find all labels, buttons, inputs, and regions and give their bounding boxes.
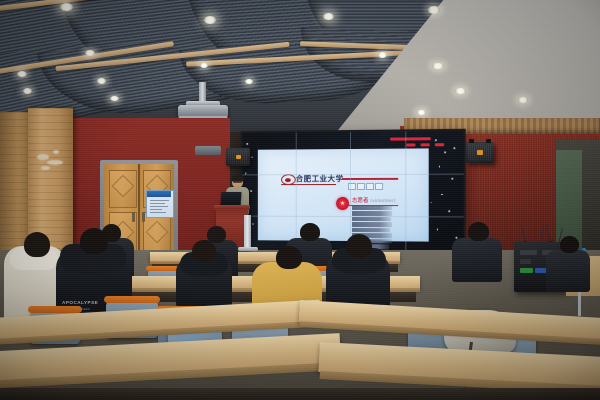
ceiling-downlight (85, 50, 95, 56)
slide-headline: 志愿者 (volunteer) (352, 198, 395, 205)
chair-trim (28, 306, 82, 313)
side-table-leg (578, 290, 581, 316)
ceiling-downlight (428, 6, 440, 14)
led-panel-seam (405, 131, 406, 258)
door-center-seam (138, 164, 140, 260)
slide-header-bar (435, 143, 444, 146)
rack-display (520, 250, 537, 255)
slide-headline-en: (volunteer) (370, 199, 395, 204)
podium-stand-base (238, 247, 258, 251)
ceiling-downlight (200, 63, 208, 68)
wall-speaker-right (466, 142, 494, 163)
door-handle[interactable] (142, 212, 145, 222)
ceiling-downlight (204, 16, 216, 24)
slide-header-bar (406, 143, 415, 146)
ceiling-downlight (23, 88, 32, 94)
ceiling-downlight (323, 13, 334, 20)
ceiling-downlight (432, 63, 444, 69)
slide-headline-cn: 志愿者 (352, 198, 369, 204)
ceiling-downlight (17, 71, 27, 77)
wood-wall-panel-left (0, 112, 30, 258)
desk-underside-front (0, 388, 600, 400)
rack-status-led (520, 268, 533, 273)
jacket-brand-text: APOCALYPSE (62, 300, 98, 305)
ceiling-downlight (518, 97, 528, 103)
chair-trim (104, 296, 160, 303)
podium-mic-stand (244, 215, 251, 249)
door-handle[interactable] (132, 212, 135, 222)
ceiling-downlight (245, 79, 253, 84)
wall-speaker-left (226, 148, 250, 166)
presenter-laptop[interactable] (221, 192, 242, 206)
ceiling-downlight (97, 78, 106, 84)
presentation-slide: 合肥工业大学 ★ 志愿者 (volunteer) (258, 148, 429, 241)
star-icon: ★ (339, 200, 346, 207)
ceiling-downlight (417, 110, 426, 115)
glasses-icon (233, 181, 242, 183)
slide-star-badge: ★ (336, 197, 349, 210)
ceiling-downlight (455, 88, 466, 94)
slide-header-bar (390, 137, 431, 140)
logo-underline (281, 184, 336, 185)
lecture-hall-photo: 合肥工业大学 ★ 志愿者 (volunteer) (0, 0, 600, 400)
rack-label (520, 259, 531, 264)
ceiling-downlight (60, 3, 73, 11)
air-conditioner-unit (195, 146, 221, 155)
door-sign-header (147, 191, 171, 197)
ceiling-downlight (378, 52, 387, 58)
ceiling-downlight (110, 96, 119, 101)
slide-header-bar (421, 143, 430, 146)
